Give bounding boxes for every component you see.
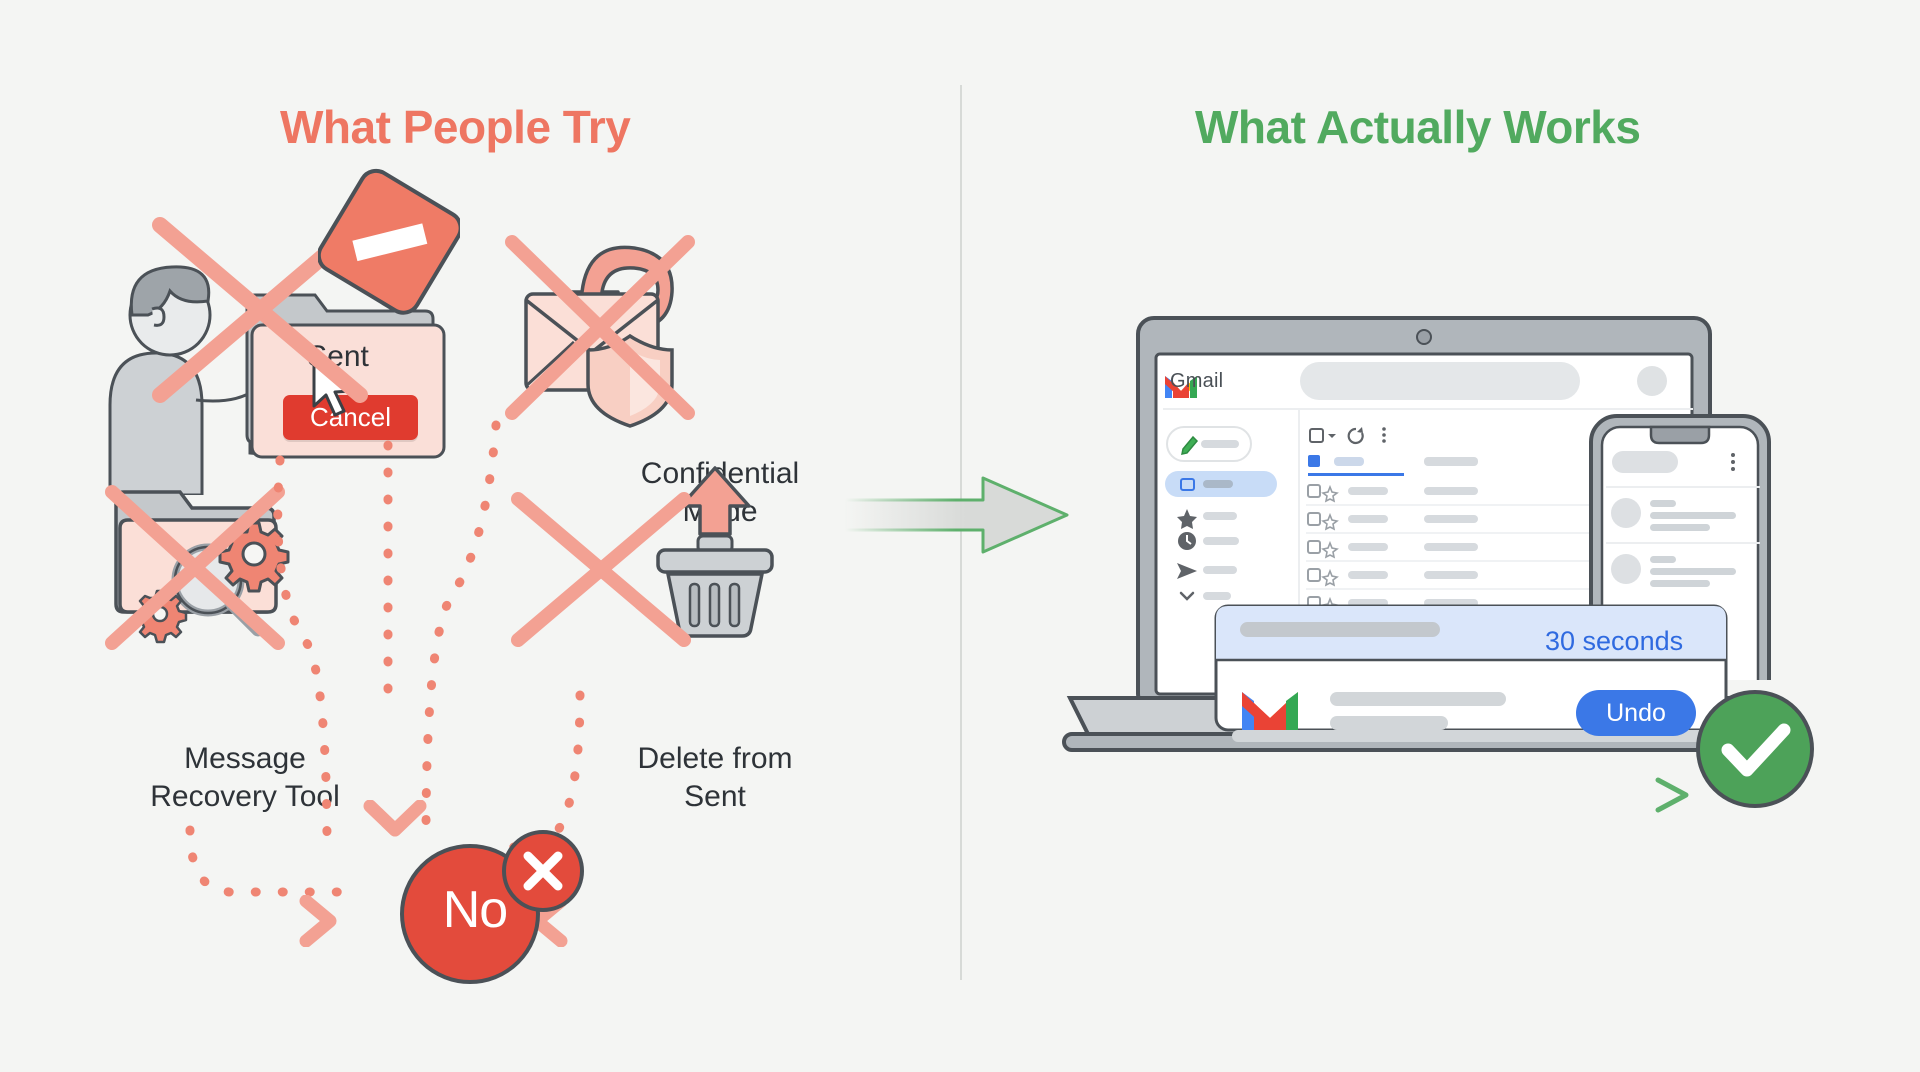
toast-line-1: [1330, 692, 1506, 706]
undo-button[interactable]: Undo: [1576, 690, 1696, 736]
page-title-right: What Actually Works: [1195, 100, 1640, 154]
avatar: [1611, 498, 1641, 528]
dotted-connector-lines: [140, 400, 880, 900]
list-item: [1611, 554, 1736, 587]
gmail-m-logo: [1242, 692, 1298, 730]
page-title-left: What People Try: [280, 100, 630, 154]
avatar: [1611, 554, 1641, 584]
more-vert-icon: [1731, 453, 1735, 457]
success-check-badge: [1694, 688, 1816, 810]
avatar: [1637, 366, 1667, 396]
undo-timer-label: 30 seconds: [1545, 626, 1683, 657]
arrowhead-right-icon: [296, 895, 354, 947]
success-progress-arrow: [1090, 770, 1710, 820]
no-entry-sign-icon: [318, 168, 460, 318]
undo-toast-body: [1240, 678, 1560, 740]
gmail-search-bar[interactable]: [1300, 362, 1690, 400]
phone-search-bar: [1612, 451, 1678, 473]
toast-title-placeholder: [1240, 622, 1440, 637]
toast-line-2: [1330, 716, 1448, 730]
gmail-brand-label: Gmail: [1170, 370, 1223, 393]
list-item: [1606, 498, 1760, 543]
x-icon-badge: [500, 828, 586, 914]
cross-out-mark-confidential: [500, 230, 700, 425]
infographic-canvas: What People Try What Actually Works: [0, 0, 1920, 1072]
